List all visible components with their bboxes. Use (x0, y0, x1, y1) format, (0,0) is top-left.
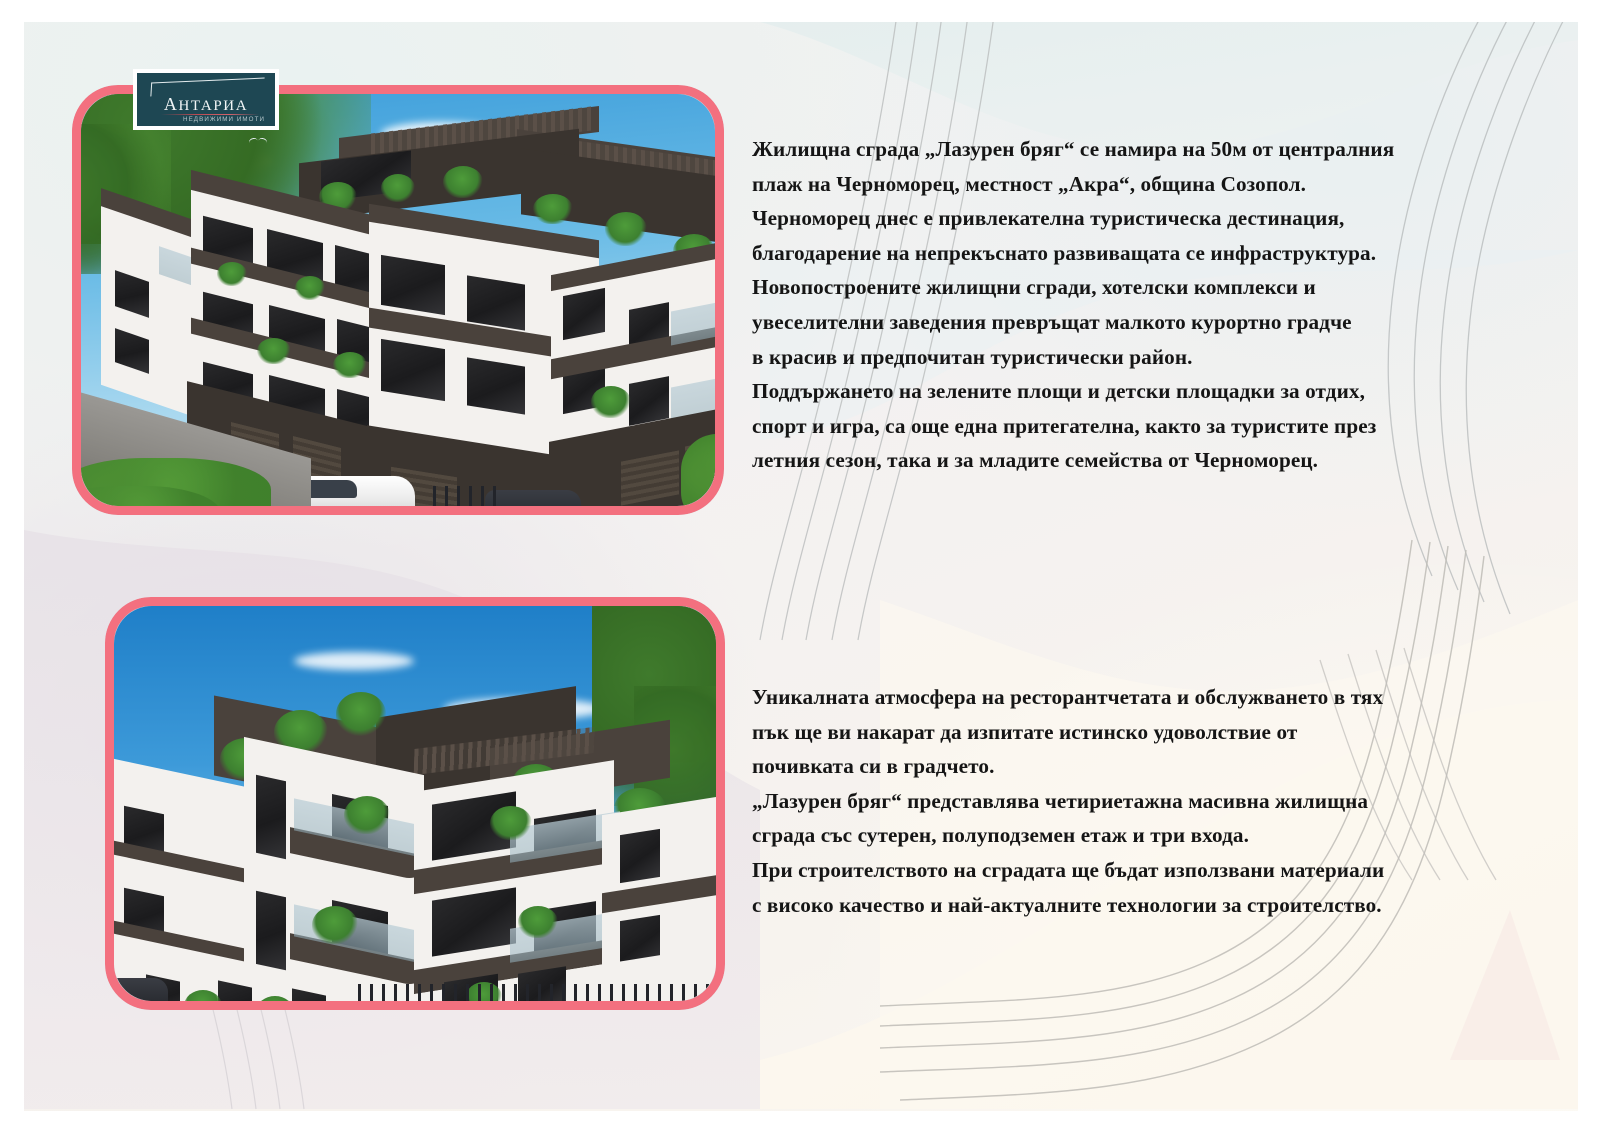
window (629, 376, 669, 426)
balcony-plant (591, 386, 631, 418)
building-photo-2 (105, 597, 725, 1010)
logo-subtitle: НЕДВИЖИМИ ИМОТИ (137, 116, 265, 123)
description-block-1: Жилищна сграда „Лазурен бряг“ се намира … (752, 132, 1552, 478)
balcony-plant (312, 906, 358, 944)
terrace-plant (605, 212, 647, 246)
copy-line: „Лазурен бряг“ представлява четириетажна… (752, 784, 1552, 819)
page-margin-right (1578, 0, 1600, 1131)
building-photo-1 (72, 85, 724, 515)
balcony-plant (333, 352, 367, 378)
logo-wordmark: Антариа (137, 90, 275, 115)
logo-plate: Антариа НЕДВИЖИМИ ИМОТИ (137, 73, 275, 126)
window-tall (256, 775, 286, 859)
balcony-plant (490, 806, 532, 840)
fence (358, 984, 714, 1001)
window (467, 275, 525, 330)
facade-left-wing (101, 205, 201, 419)
balcony-plant (295, 276, 325, 300)
building-render-icon (81, 94, 715, 506)
terrace-plant (443, 166, 483, 198)
window (467, 357, 525, 414)
window (563, 288, 605, 340)
brochure-page: Антариа НЕДВИЖИМИ ИМОТИ Жилищна сграда „… (0, 0, 1600, 1131)
description-block-2: Уникалната атмосфера на ресторантчетата … (752, 680, 1552, 922)
copy-line: плаж на Черноморец, местност „Акра“, общ… (752, 167, 1552, 202)
company-logo[interactable]: Антариа НЕДВИЖИМИ ИМОТИ (133, 69, 279, 130)
balcony-plant (518, 906, 558, 938)
copy-line: спорт и игра, са още една притегателна, … (752, 409, 1552, 444)
building-render-icon (114, 606, 716, 1001)
copy-line: летния сезон, така и за младите семейств… (752, 443, 1552, 478)
window-tall (256, 891, 286, 971)
copy-line: увеселителни заведения превръщат малкото… (752, 305, 1552, 340)
terrace-plant (381, 174, 415, 202)
copy-line: Уникалната атмосфера на ресторантчетата … (752, 680, 1552, 715)
terrace-plant (533, 194, 573, 224)
copy-line: с високо качество и най-актуалните техно… (752, 888, 1552, 923)
accent-wedge (1450, 910, 1560, 1060)
copy-line: благодарение на непрекъснато развиващата… (752, 236, 1552, 271)
page-margin-bottom (0, 1111, 1600, 1131)
bird-icon (249, 138, 267, 146)
copy-line: Новопостроените жилищни сгради, хотелски… (752, 270, 1552, 305)
balcony-plant (217, 262, 247, 286)
cloud (294, 652, 414, 670)
roof-palm (336, 692, 386, 736)
balcony-plant (257, 338, 291, 364)
copy-line: Черноморец днес е привлекателна туристич… (752, 201, 1552, 236)
copy-line: При строителството на сградата ще бъдат … (752, 853, 1552, 888)
copy-line: почивката си в градчето. (752, 749, 1552, 784)
copy-line: пък ще ви накарат да изпитате истинско у… (752, 715, 1552, 750)
window (620, 829, 660, 883)
copy-line: сграда със сутерен, полуподземен етаж и … (752, 818, 1552, 853)
copy-line: Поддържането на зелените площи и детски … (752, 374, 1552, 409)
page-margin-left (0, 0, 24, 1131)
copy-line: в красив и предпочитан туристически райо… (752, 340, 1552, 375)
copy-line: Жилищна сграда „Лазурен бряг“ се намира … (752, 132, 1552, 167)
fence (433, 486, 505, 506)
balcony-plant (344, 796, 390, 834)
car-dark (114, 978, 168, 1001)
window (381, 255, 445, 315)
page-margin-top (0, 0, 1600, 22)
window (381, 339, 445, 401)
